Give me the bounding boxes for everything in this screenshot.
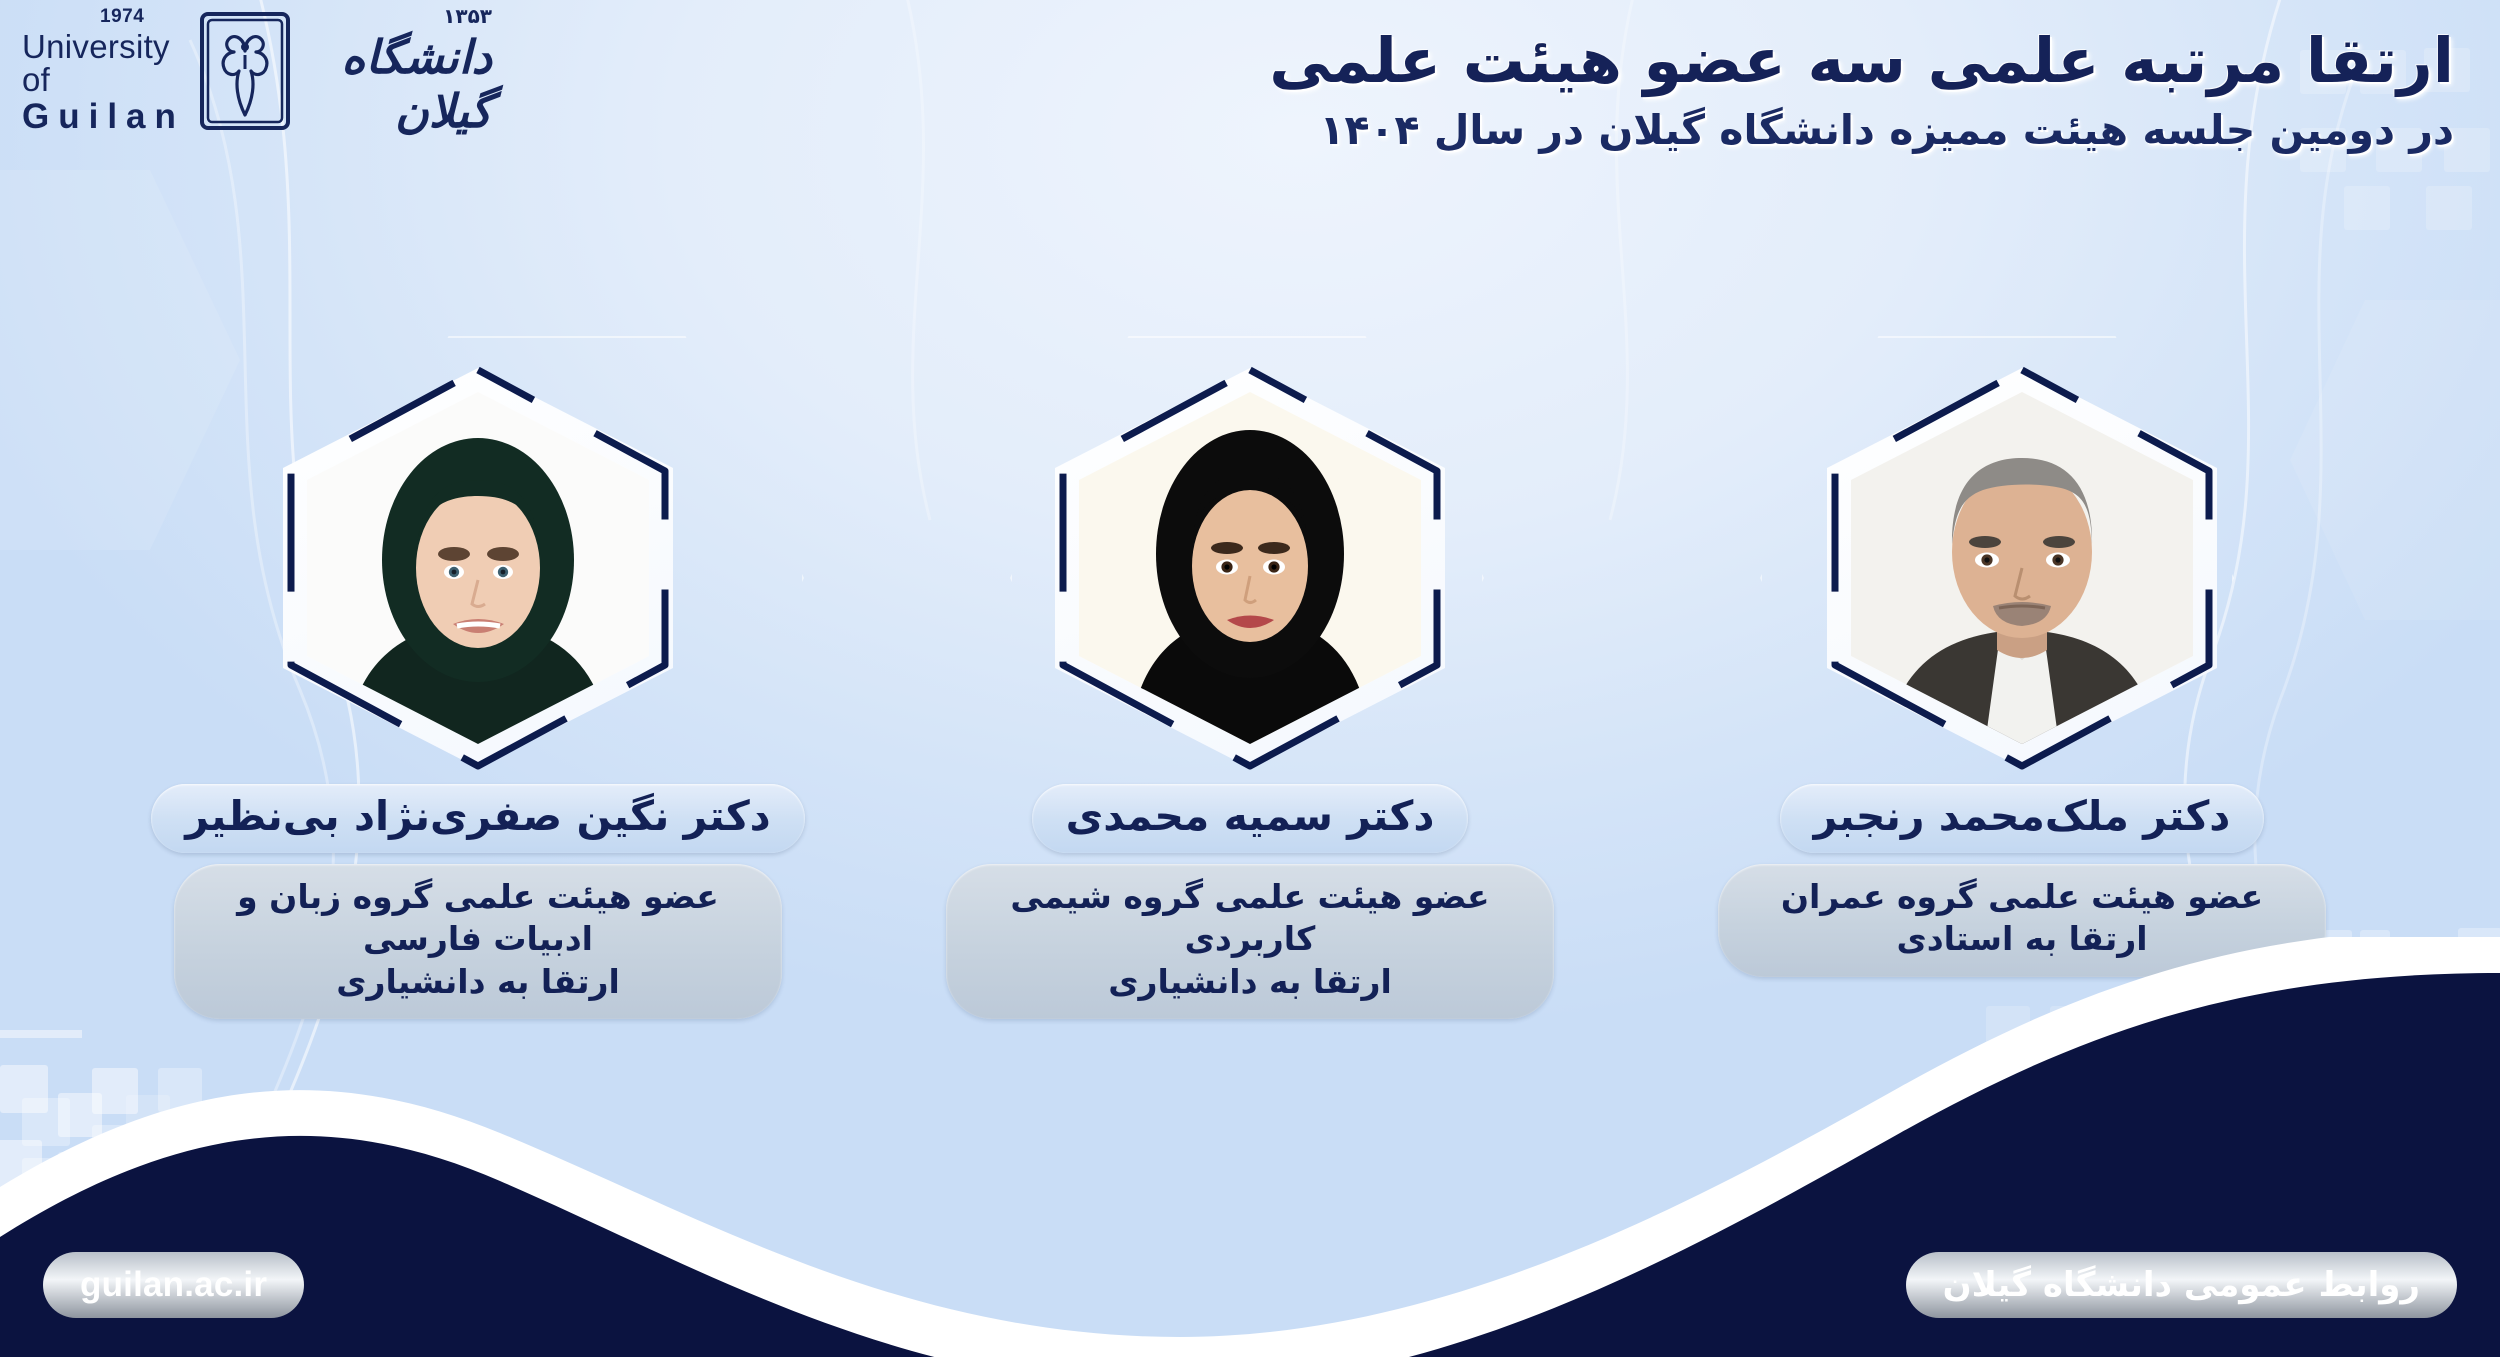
poster-root: 1974 University of Guilan ۱۳۵۳ دانشگاه گ… [0, 0, 2500, 1357]
logo-year-fa: ۱۳۵۳ [443, 4, 492, 28]
hexagon-border-accent [1821, 362, 2223, 774]
person-name: دکتر نگین صفری‌نژاد بی‌نظیر [151, 784, 804, 853]
page-subtitle: در دومین جلسه هیئت ممیزه دانشگاه گیلان د… [894, 107, 2454, 154]
photo-frame [283, 368, 673, 768]
person-name: دکتر ملک‌محمد رنجبر [1780, 784, 2265, 853]
logo-name-en: Guilan [22, 99, 185, 134]
logo-english-text: 1974 University of Guilan [22, 7, 185, 134]
page-title: ارتقا مرتبه علمی سه عضو هیئت علمی [894, 26, 2454, 95]
public-relations-badge[interactable]: روابط عمومی دانشگاه گیلان [1909, 1255, 2454, 1315]
person-card: دکتر نگین صفری‌نژاد بی‌نظیر عضو هیئت علم… [168, 368, 788, 1019]
photo-frame [1055, 368, 1445, 768]
hexagon-border-accent [277, 362, 679, 774]
public-relations-label: روابط عمومی دانشگاه گیلان [1943, 1265, 2420, 1305]
guilan-university-emblem-icon [199, 11, 291, 131]
logo-year-en: 1974 [100, 7, 144, 26]
website-badge[interactable]: guilan.ac.ir [46, 1255, 301, 1315]
person-name: دکتر سمیه محمدی [1032, 784, 1469, 853]
person-card: دکتر ملک‌محمد رنجبر عضو هیئت علمی گروه ع… [1712, 368, 2332, 977]
university-logo: 1974 University of Guilan ۱۳۵۳ دانشگاه گ… [22, 8, 492, 133]
website-label: guilan.ac.ir [80, 1265, 267, 1305]
logo-university-en: University of [22, 30, 185, 96]
person-department: عضو هیئت علمی گروه عمران [1742, 876, 2302, 918]
decorative-square [2426, 186, 2472, 230]
hexagon-border-accent [1049, 362, 1451, 774]
person-card: دکتر سمیه محمدی عضو هیئت علمی گروه شیمی … [940, 368, 1560, 1019]
logo-persian-text: ۱۳۵۳ دانشگاه گیلان [303, 4, 492, 138]
photo-frame [1827, 368, 2217, 768]
people-row: دکتر نگین صفری‌نژاد بی‌نظیر عضو هیئت علم… [0, 368, 2500, 1028]
logo-name-fa: دانشگاه گیلان [303, 30, 492, 138]
header-titles: ارتقا مرتبه علمی سه عضو هیئت علمی در دوم… [894, 26, 2454, 155]
decorative-square [2344, 186, 2390, 230]
